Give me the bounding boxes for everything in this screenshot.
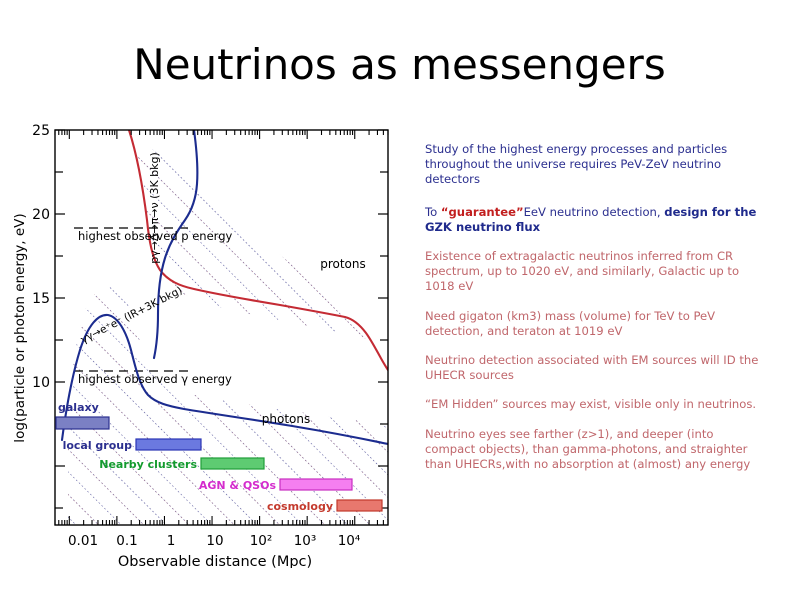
- bullet-list: Study of the highest energy processes an…: [425, 142, 765, 486]
- x-tick-label: 10³: [294, 533, 317, 549]
- figure-neutrino-horizon: 25 20 15 10 0.01 0.1 1 10 10² 10³ 10⁴ Ob…: [8, 118, 408, 568]
- distance-bar-cosmology: cosmology: [267, 500, 382, 513]
- distance-bar-label: local group: [63, 439, 133, 452]
- bullet-run-text: To: [425, 205, 441, 219]
- x-tick-label: 1: [167, 533, 176, 549]
- bullet-run-guarantee: “guarantee”: [441, 205, 524, 219]
- x-tick-label: 10⁴: [338, 533, 361, 549]
- bullet-item-2: To “guarantee”EeV neutrino detection, de…: [425, 205, 765, 235]
- bullet-run-text: EeV neutrino detection,: [524, 205, 665, 219]
- annotation-pgamma-delta-pi-nu: pγ→Δ→π→ν (3K bkg): [148, 152, 161, 264]
- bullet-item-6: “EM Hidden” sources may exist, visible o…: [425, 397, 765, 412]
- x-tick-label: 0.1: [116, 533, 137, 549]
- x-axis-title: Observable distance (Mpc): [118, 554, 312, 568]
- horizon-plot-svg: 25 20 15 10 0.01 0.1 1 10 10² 10³ 10⁴ Ob…: [8, 118, 408, 568]
- page-title: Neutrinos as messengers: [0, 44, 799, 86]
- distance-bar-agn-qsos: AGN & QSOs: [199, 479, 352, 492]
- annotation-protons-label: protons: [320, 257, 366, 271]
- distance-bar-local-group: local group: [63, 439, 201, 452]
- y-axis-title: log(particle or photon energy, eV): [12, 213, 28, 442]
- slide-canvas: Neutrinos as messengers: [0, 0, 799, 600]
- x-tick-label: 0.01: [68, 533, 98, 549]
- bullet-item-3: Existence of extragalactic neutrinos inf…: [425, 249, 765, 295]
- bullet-item-4: Need gigaton (km3) mass (volume) for TeV…: [425, 309, 765, 339]
- annotation-highest-observed-gamma-energy: highest observed γ energy: [78, 372, 232, 386]
- bullet-item-7: Neutrino eyes see farther (z>1), and dee…: [425, 427, 765, 473]
- y-axis-tick-labels: 25 20 15 10: [32, 123, 50, 391]
- distance-bar-label: Nearby clusters: [99, 458, 197, 471]
- annotation-photons-label: photons: [262, 412, 310, 426]
- distance-bar-nearby-clusters: Nearby clusters: [99, 458, 264, 471]
- x-axis-tick-labels: 0.01 0.1 1 10 10² 10³ 10⁴: [68, 533, 360, 549]
- y-tick-label: 20: [32, 207, 50, 223]
- distance-bar-label: cosmology: [267, 500, 333, 513]
- bullet-item-1: Study of the highest energy processes an…: [425, 142, 765, 188]
- x-tick-label: 10: [206, 533, 223, 549]
- bullet-item-5: Neutrino detection associated with EM so…: [425, 353, 765, 383]
- y-tick-label: 15: [32, 291, 50, 307]
- distance-bar-label: galaxy: [58, 401, 99, 414]
- y-tick-label: 25: [32, 123, 50, 139]
- x-tick-label: 10²: [250, 533, 273, 549]
- y-tick-label: 10: [32, 375, 50, 391]
- distance-bar-label: AGN & QSOs: [199, 479, 277, 492]
